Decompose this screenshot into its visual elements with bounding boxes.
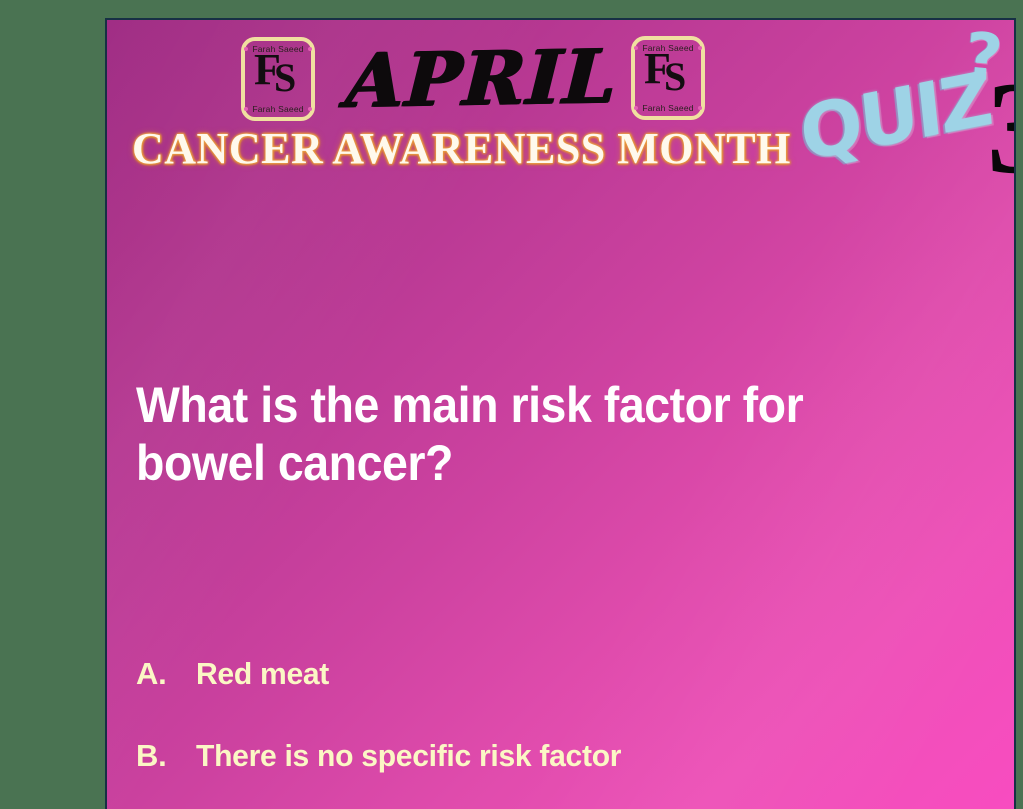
question-text: What is the main risk factor for bowel c… <box>136 376 880 492</box>
answer-letter: A. <box>136 642 196 705</box>
logo-monogram-s: S <box>664 58 682 96</box>
logo-watermark-bottom: Farah Saeed <box>633 103 702 113</box>
logo-monogram-s: S <box>274 59 292 97</box>
answer-label: There is no specific risk factor <box>196 724 953 787</box>
answer-option-a[interactable]: A. Red meat <box>136 642 976 705</box>
slide-header: Farah Saeed F S Farah Saeed APRIL Farah … <box>107 20 1014 188</box>
answer-options-list: A. Red meat B. There is no specific risk… <box>136 642 976 809</box>
answer-letter: B. <box>136 724 196 787</box>
screenshot-canvas: Farah Saeed F S Farah Saeed APRIL Farah … <box>0 0 1023 809</box>
farah-saeed-logo-left: Farah Saeed F S Farah Saeed <box>241 37 315 121</box>
farah-saeed-logo-right: Farah Saeed F S Farah Saeed <box>631 36 705 120</box>
logo-monogram: F S <box>640 56 696 100</box>
month-title: APRIL <box>344 36 620 123</box>
quiz-badge: ? QUIZ 3 <box>793 22 1016 192</box>
logo-monogram: F S <box>250 57 306 101</box>
answer-label: Red meat <box>196 642 953 705</box>
quiz-word: QUIZ <box>797 60 994 175</box>
quiz-number: 3 <box>987 62 1016 194</box>
answer-option-b[interactable]: B. There is no specific risk factor <box>136 724 976 787</box>
logo-watermark-bottom: Farah Saeed <box>243 104 312 114</box>
campaign-title: CANCER AWARENESS MONTH <box>132 124 791 174</box>
presentation-slide: Farah Saeed F S Farah Saeed APRIL Farah … <box>105 18 1016 809</box>
